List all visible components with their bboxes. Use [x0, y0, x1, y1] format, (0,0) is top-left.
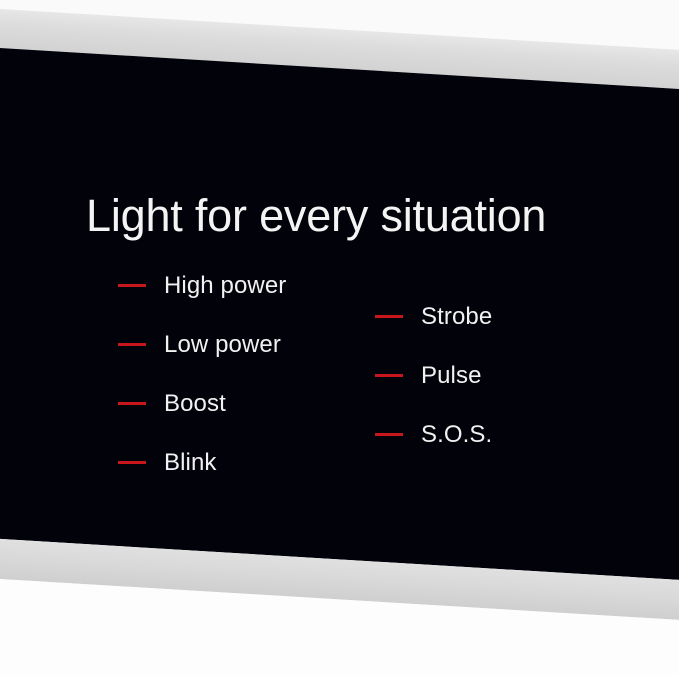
mode-label: Pulse: [421, 362, 482, 390]
mode-label: S.O.S.: [421, 421, 492, 449]
mode-label: Strobe: [421, 303, 492, 331]
mode-label: Boost: [164, 390, 226, 418]
panel-screen-surface: [0, 45, 679, 582]
list-item: Pulse: [375, 362, 492, 389]
list-item: High power: [118, 272, 286, 299]
dash-marker-icon: [118, 402, 146, 405]
tilted-panel-assembly: [0, 0, 679, 675]
dash-marker-icon: [375, 315, 403, 318]
mode-label: Blink: [164, 449, 217, 477]
page-title: Light for every situation: [86, 192, 546, 241]
dash-marker-icon: [118, 284, 146, 287]
dash-marker-icon: [375, 374, 403, 377]
list-item: Low power: [118, 331, 286, 358]
list-item: Boost: [118, 390, 286, 417]
mode-list-left: High power Low power Boost Blink: [118, 272, 286, 508]
mode-label: Low power: [164, 331, 281, 359]
list-item: S.O.S.: [375, 421, 492, 448]
list-item: Blink: [118, 449, 286, 476]
product-panel-scene: Light for every situation High power Low…: [0, 0, 679, 675]
dash-marker-icon: [118, 461, 146, 464]
mode-list-right: Strobe Pulse S.O.S.: [375, 303, 492, 480]
mode-label: High power: [164, 272, 286, 300]
dash-marker-icon: [375, 433, 403, 436]
list-item: Strobe: [375, 303, 492, 330]
dash-marker-icon: [118, 343, 146, 346]
